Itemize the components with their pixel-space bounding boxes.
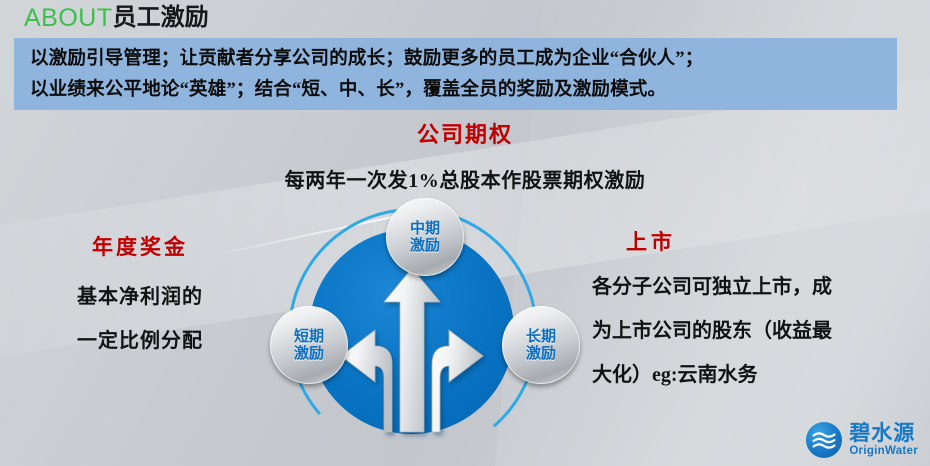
annual-bonus-body: 基本净利润的 一定比例分配 <box>18 275 262 363</box>
equity-section: 公司期权 每两年一次发1%总股本作股票期权激励 <box>0 120 930 196</box>
ipo-line-3: 大化）eg:云南水务 <box>592 353 918 397</box>
diagram-node-long-term-line-2: 激励 <box>526 345 556 362</box>
page-title-chinese: 员工激励 <box>113 6 209 30</box>
company-name-chinese: 碧水源 <box>849 423 918 444</box>
annual-bonus-heading: 年度奖金 <box>18 233 262 261</box>
slide-canvas: ABOUT 员工激励 以激励引导管理；让贡献者分享公司的成长；鼓励更多的员工成为… <box>0 0 930 466</box>
page-title-english: ABOUT <box>24 6 113 31</box>
wave-icon-glyph <box>806 422 842 458</box>
equity-heading: 公司期权 <box>0 120 930 150</box>
annual-bonus-block: 年度奖金 基本净利润的 一定比例分配 <box>18 233 262 363</box>
ipo-body: 各分子公司可独立上市，成 为上市公司的股东（收益最 大化）eg:云南水务 <box>592 265 918 397</box>
ipo-block: 上市 各分子公司可独立上市，成 为上市公司的股东（收益最 大化）eg:云南水务 <box>592 228 918 397</box>
diagram-node-short-term-line-2: 激励 <box>294 345 324 362</box>
ipo-line-1: 各分子公司可独立上市，成 <box>592 265 918 309</box>
wave-icon <box>806 422 842 458</box>
company-name-english: OriginWater <box>849 446 918 458</box>
diagram-node-mid-term-line-2: 激励 <box>410 237 440 254</box>
company-logo: 碧水源 OriginWater <box>806 422 918 458</box>
intro-banner: 以激励引导管理；让贡献者分享公司的成长；鼓励更多的员工成为企业“合伙人”； 以业… <box>14 38 897 110</box>
diagram-node-mid-term-line-1: 中期 <box>410 220 440 237</box>
annual-bonus-line-2: 一定比例分配 <box>18 319 262 363</box>
ipo-line-2: 为上市公司的股东（收益最 <box>592 309 918 353</box>
diagram-node-long-term[interactable]: 长期 激励 <box>502 306 580 384</box>
three-way-arrow-icon <box>331 254 493 432</box>
page-title: ABOUT 员工激励 <box>24 1 209 35</box>
diagram-node-mid-term[interactable]: 中期 激励 <box>386 198 464 276</box>
company-logo-text: 碧水源 OriginWater <box>849 423 918 458</box>
diagram-node-short-term-line-1: 短期 <box>294 328 324 345</box>
ipo-heading: 上市 <box>592 228 918 256</box>
diagram-node-short-term[interactable]: 短期 激励 <box>270 306 348 384</box>
equity-description: 每两年一次发1%总股本作股票期权激励 <box>0 166 930 196</box>
incentive-diagram: 中期 激励 短期 激励 长期 激励 <box>252 196 600 432</box>
diagram-node-long-term-line-1: 长期 <box>526 328 556 345</box>
intro-banner-line-1: 以激励引导管理；让贡献者分享公司的成长；鼓励更多的员工成为企业“合伙人”； <box>30 44 883 75</box>
intro-banner-line-2: 以业绩来公平地论“英雄”；结合“短、中、长”，覆盖全员的奖励及激励模式。 <box>30 75 883 106</box>
annual-bonus-line-1: 基本净利润的 <box>18 275 262 319</box>
